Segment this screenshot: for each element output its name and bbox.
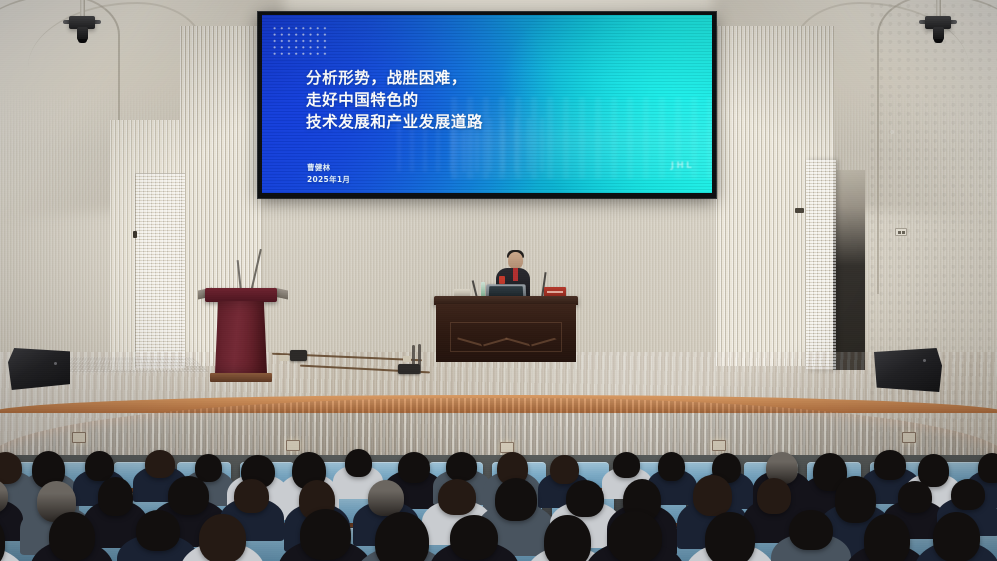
slide-date: 2025年1月 [307, 174, 350, 186]
water-bottle [481, 282, 485, 297]
led-screen-surface: 分析形势，战胜困难， 走好中国特色的 技术发展和产业发展道路 曹健林 2025年… [262, 15, 712, 193]
slide-dot-pattern-decoration [271, 25, 329, 59]
audience-member-head [398, 452, 430, 483]
slide-logo: JHL [671, 161, 694, 171]
slide-byline: 曹健林 2025年1月 [307, 162, 350, 185]
side-door-leaf[interactable] [806, 160, 836, 370]
stage-monitor-right [874, 348, 942, 392]
speaker-head [508, 252, 523, 269]
audience-member-head [658, 452, 685, 481]
audience-member-head [85, 451, 113, 481]
audience-member-head [898, 481, 932, 513]
audience-member-head [234, 479, 269, 513]
audience-member-head [199, 514, 245, 561]
audience-member-head [368, 480, 404, 516]
head-table-front [436, 304, 576, 362]
stage-lip-light [902, 432, 916, 443]
stage-cable-box [290, 350, 307, 361]
audience-member-head [566, 480, 605, 517]
stage-cable-box [398, 364, 420, 374]
audience-member-head [864, 514, 910, 561]
speaker-tie [513, 268, 518, 281]
stage-floor-plate [403, 356, 411, 362]
door-handle-left-icon [133, 231, 137, 238]
led-video-wall[interactable]: 分析形势，战胜困难， 走好中国特色的 技术发展和产业发展道路 曹健林 2025年… [258, 12, 716, 198]
stage-lip-light [712, 440, 726, 451]
lectern-body [215, 301, 267, 374]
monitor-indicator-icon [923, 359, 926, 362]
audience-member-head [835, 476, 877, 522]
stage-lip-light [72, 432, 86, 443]
audience-member-head [705, 512, 755, 561]
auditorium-scene: 分析形势，战胜困难， 走好中国特色的 技术发展和产业发展道路 曹健林 2025年… [0, 0, 997, 561]
audience-member-head [757, 478, 791, 514]
audience-member-head [789, 510, 832, 551]
audience-member-head [693, 475, 732, 515]
head-table [434, 296, 578, 364]
side-door-open[interactable] [833, 170, 865, 370]
stage-monitor-left [8, 348, 70, 390]
audience-member-head [446, 452, 477, 481]
audience-member-head [136, 510, 180, 551]
audience-member-head [438, 479, 476, 515]
audience-member-head [933, 512, 980, 561]
audience-member-head [49, 512, 94, 561]
lectern-top [205, 288, 277, 302]
ceiling-spotlight-right [908, 0, 968, 46]
light-lens [78, 39, 87, 43]
stage-floor-plate [279, 355, 289, 361]
audience-member-head [978, 453, 997, 483]
slide-title: 分析形势，战胜困难， 走好中国特色的 技术发展和产业发展道路 [306, 67, 636, 133]
audience-member-head [613, 452, 640, 478]
light-lens [934, 39, 943, 43]
lectern-base [210, 373, 272, 382]
audience-member-head [345, 449, 372, 476]
audience-member-head [951, 479, 985, 510]
lectern[interactable] [210, 288, 272, 382]
audience-member-head [98, 477, 133, 516]
audience-member-head [168, 476, 209, 515]
audience-member-head [608, 511, 662, 561]
slide-speaker-name: 曹健林 [307, 162, 350, 174]
stage-lip-light [286, 440, 300, 451]
side-door-closed[interactable] [135, 173, 185, 368]
wall-outlet-icon [895, 228, 907, 236]
audience-member-head [300, 509, 351, 559]
door-handle-right-icon [795, 208, 804, 213]
ceiling-spotlight-left [52, 0, 112, 46]
audience-member-head [145, 450, 174, 478]
audience-member-head [375, 512, 429, 561]
audience-member-head [874, 450, 906, 480]
audience-member-head [495, 478, 537, 521]
monitor-indicator-icon [54, 362, 57, 365]
speaker-badge [499, 276, 505, 284]
audience-member-head [450, 515, 498, 560]
audience-member-head [550, 455, 579, 484]
audience-member-head [544, 515, 591, 561]
